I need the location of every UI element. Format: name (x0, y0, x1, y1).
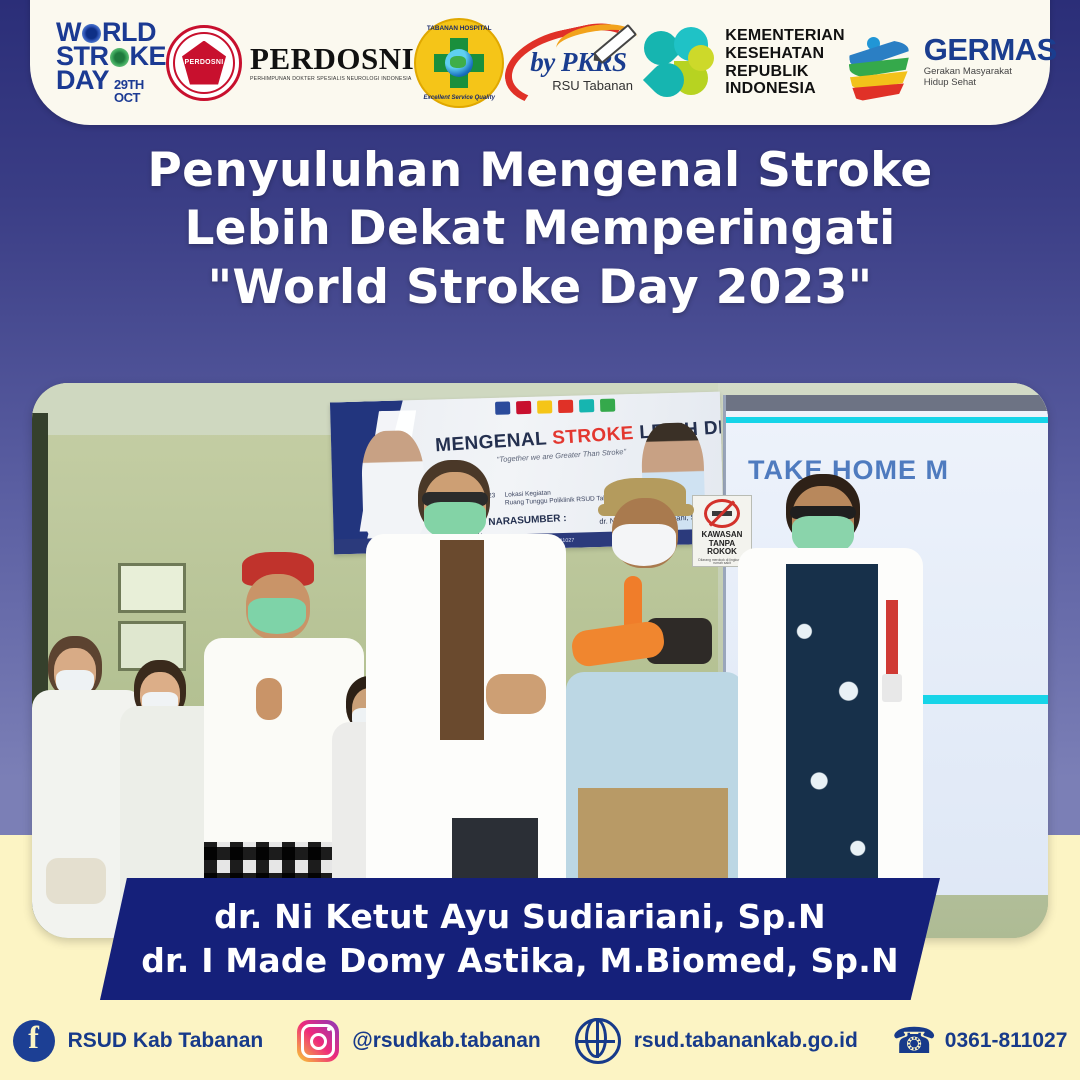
logo-perdosni: PERDOSNI PERDOSNI PERHIMPUNAN DOKTER SPE… (166, 25, 414, 101)
instagram-icon (297, 1020, 339, 1062)
tabanan-bottom-text: Excellent Service Quality (416, 95, 502, 101)
pkrs-subtitle: RSU Tabanan (552, 78, 633, 93)
event-photo: TAKE HOME M MENGENAL STROKE LEBIH DEKAT … (32, 383, 1048, 938)
wsd-oct: OCT (114, 90, 140, 105)
wall-frame-1 (118, 563, 186, 613)
kemenkes-mark-icon (644, 27, 716, 99)
speaker-name-1: dr. Ni Ketut Ayu Sudiariani, Sp.N (214, 895, 826, 939)
tabanan-top-text: TABANAN HOSPITAL (416, 25, 502, 32)
phone-icon: ☎ (892, 1021, 932, 1061)
title-line-3: "World Stroke Day 2023" (0, 259, 1080, 317)
instagram-label: @rsudkab.tabanan (352, 1029, 541, 1053)
logo-world-stroke-day: WRLD STRKE DAY 29THOCT (56, 21, 166, 104)
footer-instagram[interactable]: @rsudkab.tabanan (297, 1020, 541, 1062)
kemenkes-line2: KESEHATAN (725, 45, 845, 63)
logo-kemenkes: KEMENTERIAN KESEHATAN REPUBLIK INDONESIA (644, 27, 845, 99)
germas-title: GERMAS (924, 36, 1057, 64)
speaker-names-banner: dr. Ni Ketut Ayu Sudiariani, Sp.N dr. I … (100, 878, 940, 1000)
hospital-cross-icon: TABANAN HOSPITAL Excellent Service Quali… (414, 18, 504, 108)
globe-emblem-icon (445, 49, 473, 77)
footer-website[interactable]: rsud.tabanankab.go.id (575, 1018, 858, 1064)
facebook-label: RSUD Kab Tabanan (68, 1029, 264, 1053)
website-label: rsud.tabanankab.go.id (634, 1029, 858, 1053)
banner-logo-strip (495, 399, 615, 415)
poster-title: Penyuluhan Mengenal Stroke Lebih Dekat M… (0, 142, 1080, 317)
perdosni-title: PERDOSNI (250, 43, 414, 74)
footer-contact-bar: RSUD Kab Tabanan @rsudkab.tabanan rsud.t… (0, 1002, 1080, 1080)
banner-headline-stroke: STROKE (552, 423, 635, 449)
footer-phone[interactable]: ☎ 0361-811027 (892, 1021, 1068, 1061)
wsd-ke: KE (130, 45, 167, 69)
title-line-2: Lebih Dekat Memperingati (0, 200, 1080, 258)
perdosni-subtitle: PERHIMPUNAN DOKTER SPESIALIS NEUROLOGI I… (250, 77, 414, 82)
header-logo-bar: WRLD STRKE DAY 29THOCT PERDOSNI PERDOSNI… (30, 0, 1050, 125)
logo-pkrs: by PKRS RSU Tabanan (504, 23, 644, 103)
person-patient (560, 468, 750, 938)
speaker-name-2: dr. I Made Domy Astika, M.Biomed, Sp.N (141, 939, 899, 983)
kemenkes-line1: KEMENTERIAN (725, 27, 845, 45)
kemenkes-line4: INDONESIA (725, 80, 845, 98)
germas-sub2: Hidup Sehat (924, 78, 1057, 89)
phone-label: 0361-811027 (945, 1029, 1068, 1053)
title-line-1: Penyuluhan Mengenal Stroke (0, 142, 1080, 200)
logo-germas: GERMAS Gerakan Masyarakat Hidup Sehat (845, 27, 1057, 99)
logo-tabanan-hospital: TABANAN HOSPITAL Excellent Service Quali… (414, 18, 504, 108)
globe-icon (575, 1018, 621, 1064)
wsd-day: DAY (56, 69, 109, 93)
germas-figure-icon (845, 27, 917, 99)
footer-facebook[interactable]: RSUD Kab Tabanan (13, 1020, 264, 1062)
kemenkes-line3: REPUBLIK (725, 63, 845, 81)
facebook-icon (13, 1020, 55, 1062)
perdosni-seal-text: PERDOSNI (185, 59, 224, 66)
perdosni-seal-icon: PERDOSNI (166, 25, 242, 101)
poster-root: WRLD STRKE DAY 29THOCT PERDOSNI PERDOSNI… (0, 0, 1080, 1080)
person-doctor-2 (738, 468, 923, 938)
person-doctor-1 (366, 458, 566, 938)
